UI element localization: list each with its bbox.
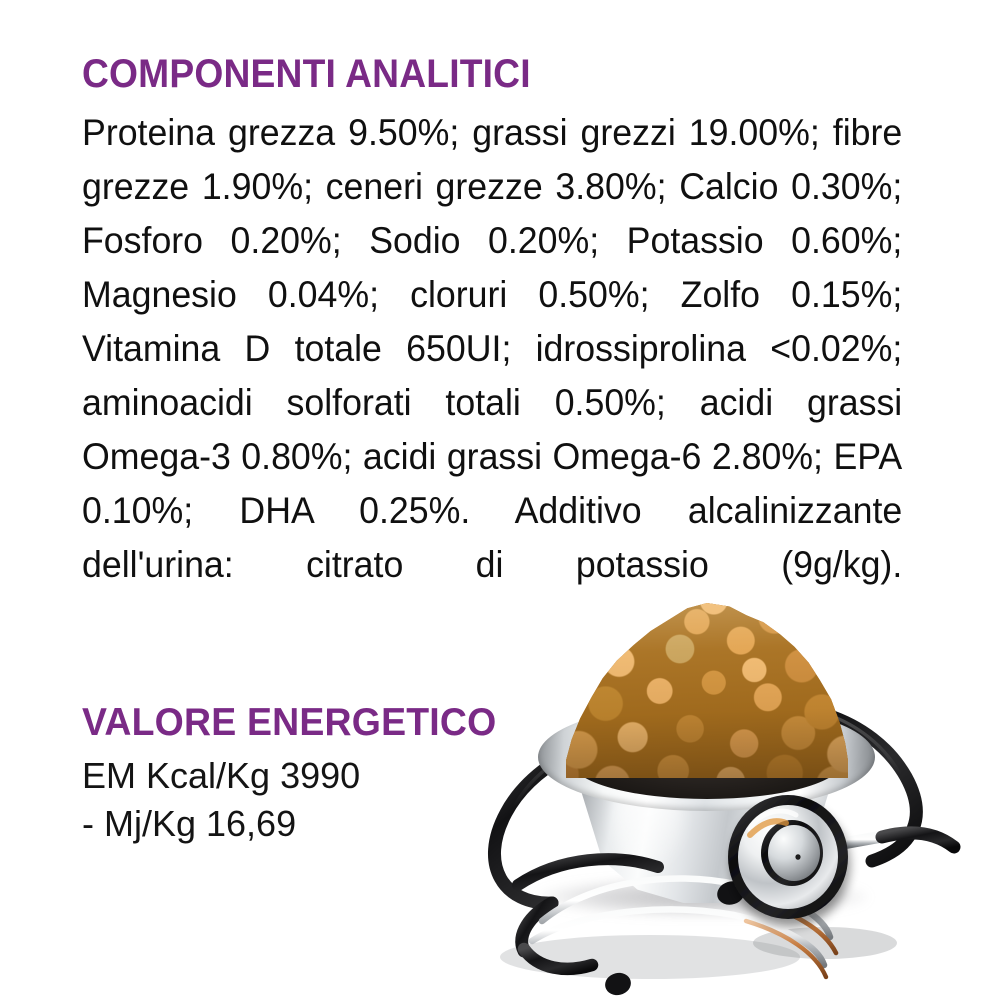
page-title-componenti-analitici: COMPONENTI ANALITICI — [82, 52, 873, 96]
stethoscope-tube-left — [494, 715, 720, 903]
energy-line-mj: - Mj/Kg 16,69 — [82, 800, 514, 848]
steel-bowl-inner-opening — [572, 725, 842, 799]
stethoscope-binaural-black-arc — [518, 859, 658, 885]
analytical-components-block: COMPONENTI ANALITICI Proteina grezza 9.5… — [82, 52, 932, 646]
stethoscope-tube-to-chestpiece — [882, 833, 954, 847]
stethoscope-binaural-steel-upper — [542, 878, 830, 937]
energy-value-block: VALORE ENERGETICO EM Kcal/Kg 3990 - Mj/K… — [82, 700, 514, 848]
stethoscope-eartip-upper — [714, 878, 748, 909]
stethoscope-binaural-steel-lower — [532, 909, 824, 965]
stethoscope-chestpiece — [728, 795, 848, 919]
product-label-page: COMPONENTI ANALITICI Proteina grezza 9.5… — [0, 0, 1000, 1000]
energy-line-kcal: EM Kcal/Kg 3990 — [82, 752, 514, 800]
steel-bowl-body — [570, 755, 840, 903]
analytical-components-text: Proteina grezza 9.50%; grassi grezzi 19.… — [82, 106, 902, 646]
photo-alt-text: Ciotola in acciaio inox piena di crocche… — [0, 0, 1, 1]
bowl-ground-shadow — [538, 877, 868, 917]
stethoscope-copper-wire-a — [750, 901, 836, 953]
section-title-valore-energetico: VALORE ENERGETICO — [82, 700, 496, 746]
stethoscope-tube-left-lower — [522, 903, 552, 951]
stethoscope-eartip-lower — [603, 970, 634, 998]
stethoscope-tube-right — [720, 706, 916, 861]
steel-bowl-rim — [538, 703, 875, 811]
stethoscope-chestpiece-stem — [824, 835, 890, 847]
stethoscope-copper-wire-b — [746, 921, 826, 977]
